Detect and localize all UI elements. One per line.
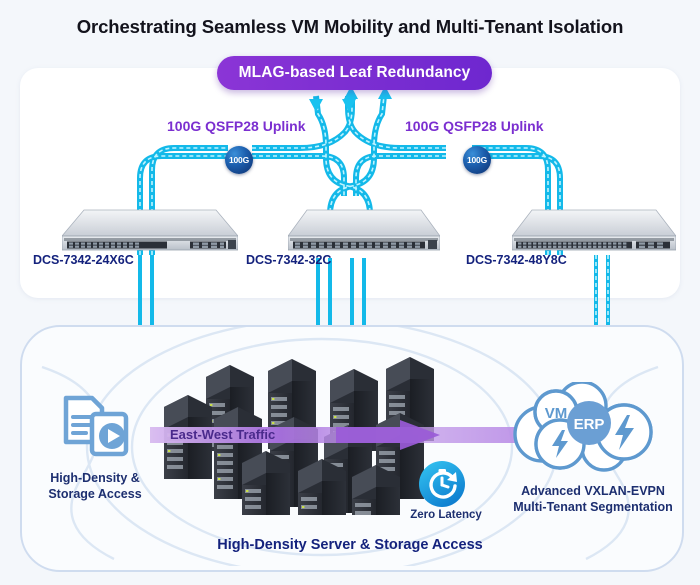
vxlan-caption: Advanced VXLAN-EVPN Multi-Tenant Segment… — [498, 483, 688, 515]
port-node-100g-left: 100G — [225, 146, 253, 174]
access-caption: High-Density & Storage Access — [30, 470, 160, 502]
port-node-100g-right: 100G — [463, 146, 491, 174]
switch-label-0: DCS-7342-24X6C — [33, 253, 134, 267]
vxlan-caption-line2: Multi-Tenant Segmentation — [498, 499, 688, 515]
zero-latency-label: Zero Latency — [396, 509, 496, 521]
port-node-label: 100G — [467, 155, 487, 165]
access-caption-line2: Storage Access — [30, 486, 160, 502]
vxlan-cloud-icon: VM ERP — [512, 382, 660, 483]
switch-label-2: DCS-7342-48Y8C — [466, 253, 567, 267]
document-play-icon — [60, 392, 138, 467]
switch-label-1: DCS-7342-32C — [246, 253, 331, 267]
stopwatch-icon — [418, 460, 466, 513]
port-node-label: 100G — [229, 155, 249, 165]
east-west-traffic-label: East-West Traffic — [170, 427, 275, 442]
vxlan-caption-line1: Advanced VXLAN-EVPN — [498, 483, 688, 499]
bottom-caption: High-Density Server & Storage Access — [20, 537, 680, 553]
page-title: Orchestrating Seamless VM Mobility and M… — [0, 16, 700, 38]
mlag-badge-label: MLAG-based Leaf Redundancy — [239, 64, 471, 82]
uplink-label-left: 100G QSFP28 Uplink — [167, 118, 306, 134]
mlag-badge: MLAG-based Leaf Redundancy — [217, 56, 492, 90]
access-caption-line1: High-Density & — [30, 470, 160, 486]
cloud-node-erp: ERP — [574, 416, 605, 433]
diagram-root: Orchestrating Seamless VM Mobility and M… — [0, 0, 700, 585]
uplink-label-right: 100G QSFP28 Uplink — [405, 118, 544, 134]
